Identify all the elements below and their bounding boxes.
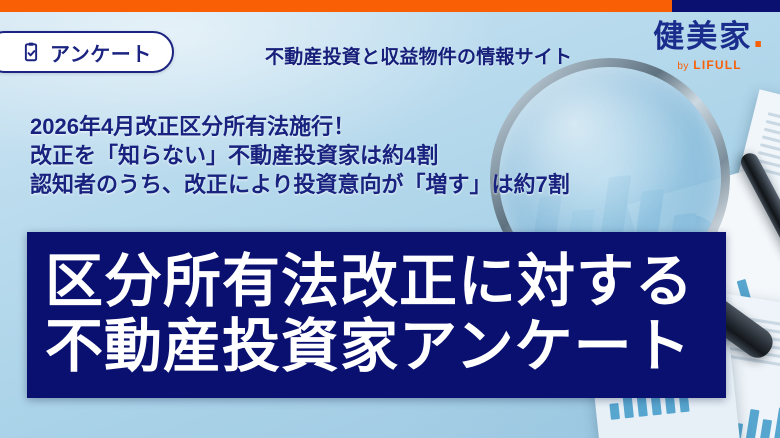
logo-parent-brand-name: LIFULL bbox=[693, 58, 742, 72]
mini-bar bbox=[772, 407, 780, 438]
logo-orange-dot: . bbox=[752, 19, 766, 55]
main-title-line-1: 区分所有法改正に対する bbox=[45, 250, 708, 315]
brand-logo[interactable]: 健美家. by LIFULL bbox=[653, 22, 766, 72]
mini-bar bbox=[609, 403, 620, 420]
main-title-line-2: 不動産投資家アンケート bbox=[45, 315, 708, 380]
survey-badge-label: アンケート bbox=[50, 38, 152, 67]
logo-by-prefix: by bbox=[677, 61, 688, 72]
lead-line-1: 2026年4月改正区分所有法施行！ bbox=[30, 112, 570, 141]
clipboard-check-icon bbox=[20, 41, 42, 63]
mini-bar bbox=[745, 409, 760, 438]
top-accent-bar bbox=[0, 0, 780, 12]
logo-name: 健美家 bbox=[653, 19, 752, 55]
navy-accent-bar bbox=[672, 0, 780, 12]
main-title-block: 区分所有法改正に対する 不動産投資家アンケート bbox=[27, 232, 726, 398]
site-tagline: 不動産投資と収益物件の情報サイト bbox=[265, 42, 572, 69]
mini-bar bbox=[758, 419, 772, 438]
logo-wordmark: 健美家. bbox=[653, 22, 766, 53]
survey-badge[interactable]: アンケート bbox=[0, 31, 174, 73]
logo-parent-brand: by LIFULL bbox=[653, 58, 766, 72]
infographic-banner: アンケート 不動産投資と収益物件の情報サイト 健美家. by LIFULL 20… bbox=[0, 0, 780, 438]
orange-accent-bar bbox=[0, 0, 672, 12]
lead-copy: 2026年4月改正区分所有法施行！ 改正を「知らない」不動産投資家は約4割 認知… bbox=[30, 112, 570, 199]
lead-line-2: 改正を「知らない」不動産投資家は約4割 bbox=[30, 141, 570, 170]
lead-line-3: 認知者のうち、改正により投資意向が「増す」は約7割 bbox=[30, 170, 570, 199]
